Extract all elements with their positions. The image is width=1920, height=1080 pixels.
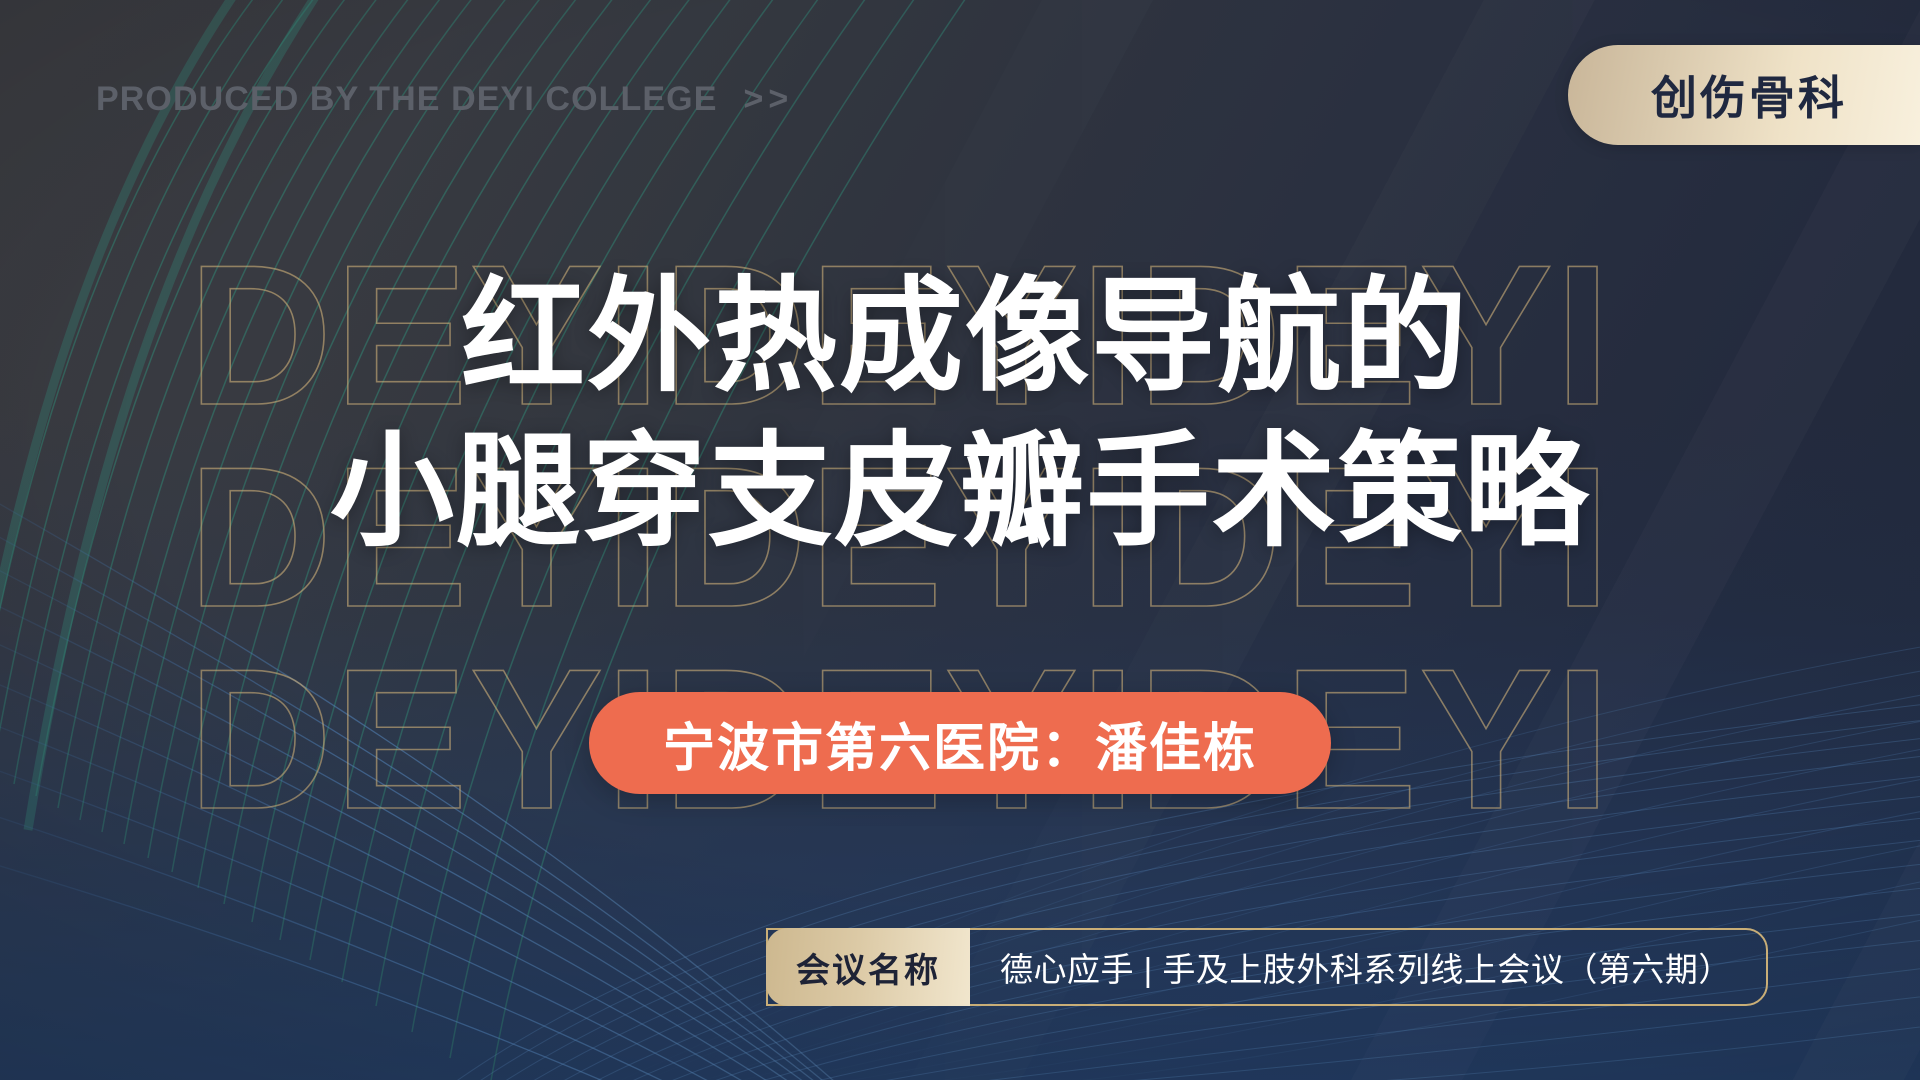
title-line-2: 小腿穿支皮瓣手术策略	[0, 423, 1920, 562]
conference-label-chip: 会议名称	[766, 928, 970, 1006]
department-badge: 创伤骨科	[1568, 45, 1920, 145]
department-badge-label: 创伤骨科	[1651, 62, 1847, 128]
presentation-title-slide: DEYIDEYIDEYI DEYIDEYIDEYI DEYIDEYIDEYI P…	[0, 0, 1920, 1080]
producer-eyebrow: PRODUCED BY THE DEYI COLLEGE >>	[96, 80, 793, 119]
conference-name-text: 德心应手 | 手及上肢外科系列线上会议（第六期）	[1000, 943, 1732, 991]
conference-bar: 会议名称 德心应手 | 手及上肢外科系列线上会议（第六期）	[766, 928, 1768, 1006]
conference-name-container: 德心应手 | 手及上肢外科系列线上会议（第六期）	[970, 930, 1766, 1004]
speaker-pill: 宁波市第六医院：潘佳栋	[589, 692, 1331, 794]
double-chevron-right-icon: >>	[743, 80, 793, 119]
page-title: 红外热成像导航的 小腿穿支皮瓣手术策略	[0, 268, 1920, 562]
conference-label-text: 会议名称	[796, 943, 940, 992]
title-line-1: 红外热成像导航的	[0, 268, 1920, 407]
producer-label: PRODUCED BY THE DEYI COLLEGE	[96, 80, 717, 119]
speaker-label: 宁波市第六医院：潘佳栋	[663, 706, 1257, 781]
